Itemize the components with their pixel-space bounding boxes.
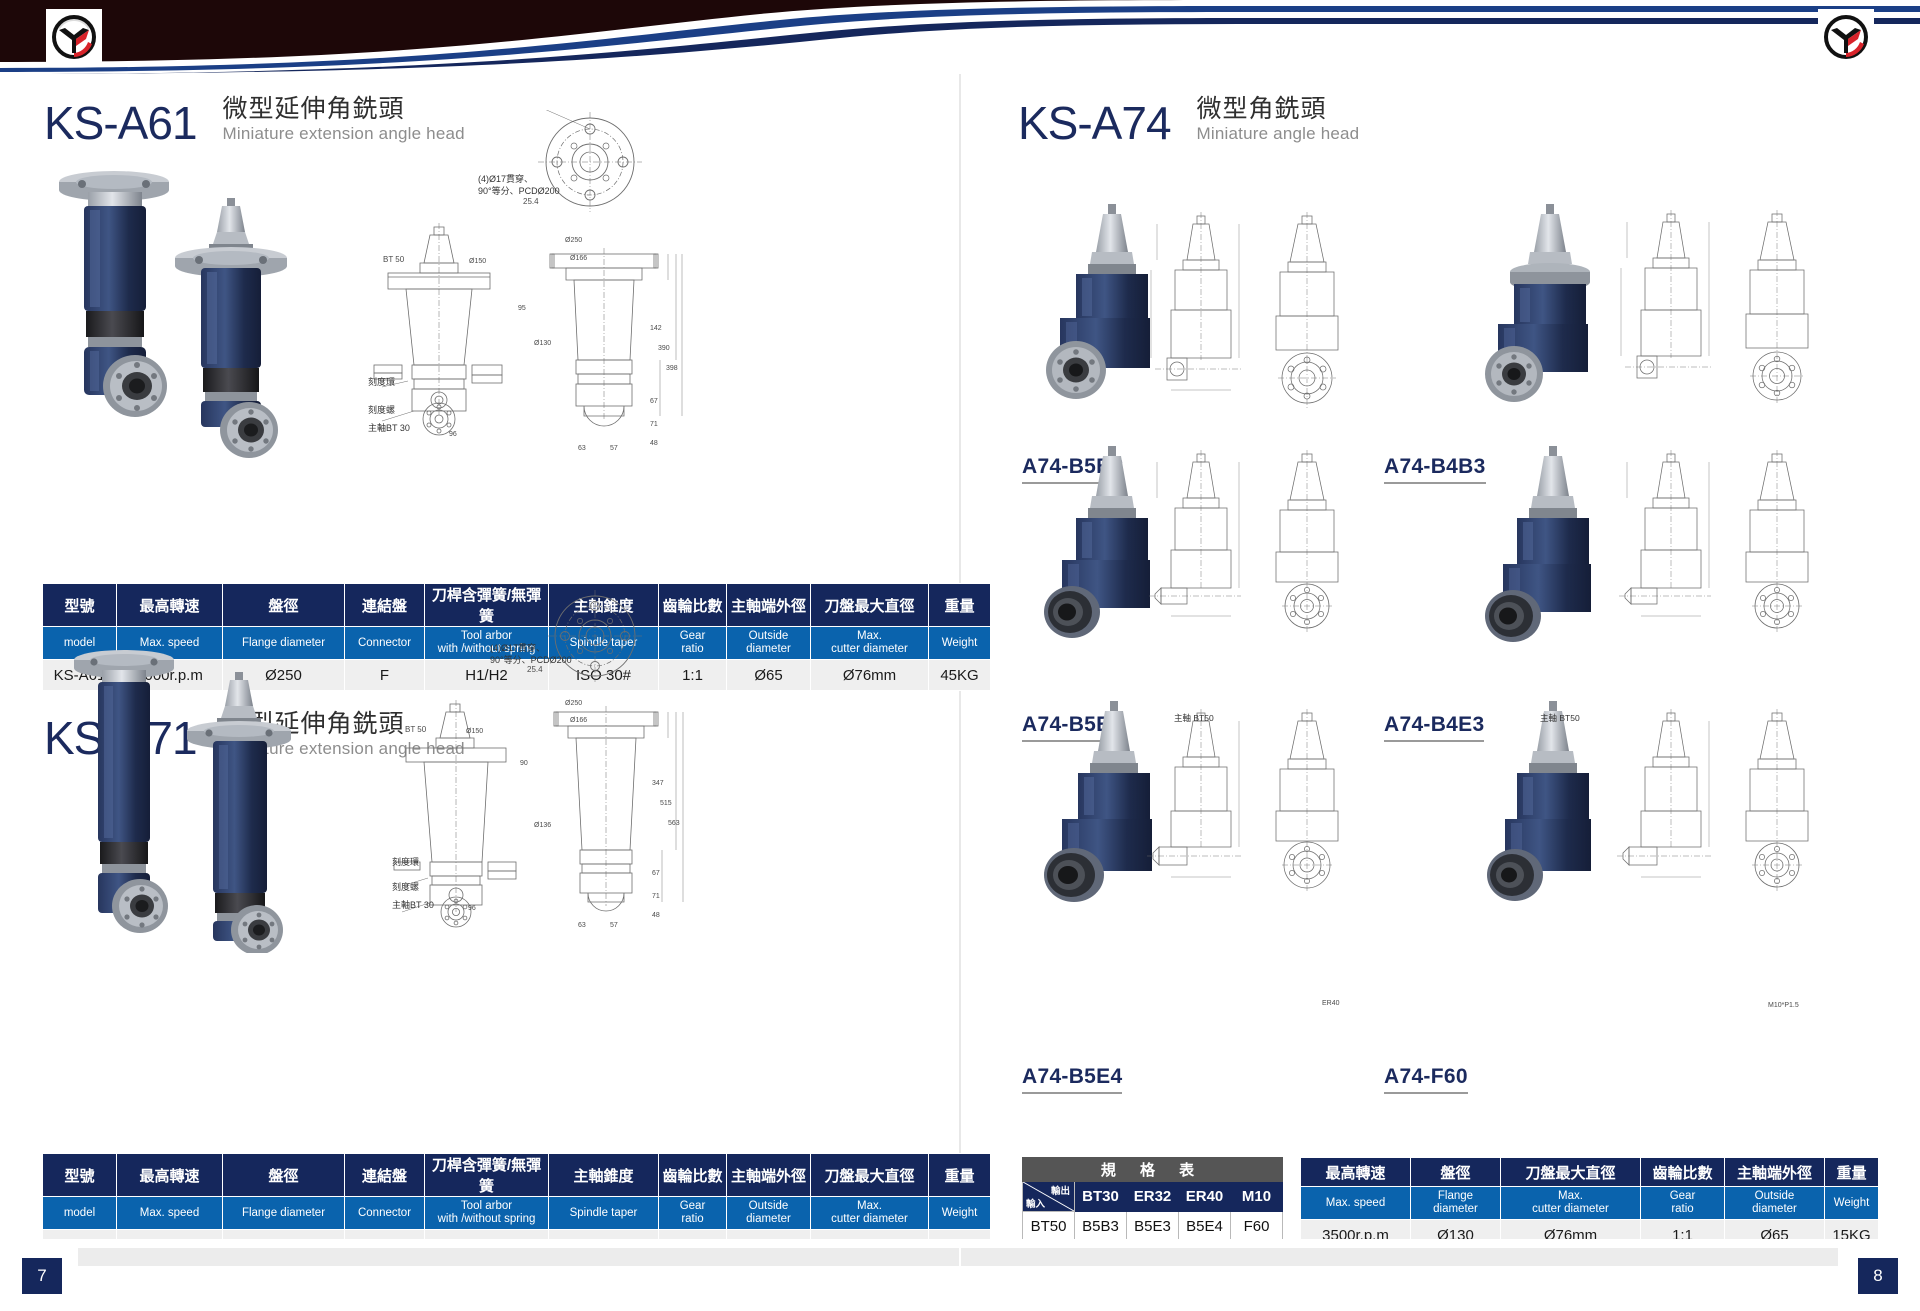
drawing-ks-a61-flange-pattern [520, 110, 660, 220]
matrix-cell-b5b3: B5B3 [1075, 1212, 1127, 1242]
th-cn-gear: 齒輪比數 [659, 1154, 727, 1197]
catalog-spread: KS-A61 微型延伸角銑頭 Miniature extension angle… [0, 0, 1920, 1311]
dim-142: 142 [650, 325, 662, 332]
dim-bt50-label: BT 50 [383, 255, 404, 264]
title-chinese: 微型角銑頭 [1197, 95, 1360, 124]
drawing-a74-b4e3-side [1615, 448, 1730, 638]
matrix-col-er32: ER32 [1127, 1182, 1179, 1212]
dim-96: 96 [449, 431, 457, 438]
matrix-cell-b5e4: B5E4 [1179, 1212, 1231, 1242]
matrix-corner-cell: 輸出 輸入 [1023, 1182, 1075, 1212]
variant-caption-a74-f60: A74-F60 [1384, 1065, 1468, 1094]
drawing-a74-b5e4-side [1145, 705, 1260, 900]
dim-d250: Ø250 [565, 237, 582, 244]
th-cn-cutter: 刀盤最大直徑 [1501, 1158, 1641, 1187]
drawing-ks-a61-elevation [528, 240, 688, 445]
dim-d136: Ø136 [534, 822, 551, 829]
model-code: KS-A61 [44, 100, 197, 146]
dim-398: 398 [666, 365, 678, 372]
matrix-corner-output-label: 輸出 [1051, 1183, 1070, 1197]
footer-strip [78, 1248, 1838, 1266]
note-spindle-bt30: 主軸BT 30 [368, 421, 410, 434]
product-photo-a74-b4e3 [1465, 440, 1630, 675]
dim-63: 63 [578, 445, 586, 452]
product-photo-a74-b4b3 [1460, 200, 1630, 430]
td-gear: 1:1 [659, 660, 727, 691]
th-cn-cutter: 刀盤最大直徑 [811, 584, 929, 627]
dim-d150: Ø150 [466, 728, 483, 735]
th-cn-model: 型號 [43, 584, 117, 627]
dim-57: 57 [610, 922, 618, 929]
th-cn-speed: 最高轉速 [117, 1154, 223, 1197]
td-outside: Ø65 [727, 660, 811, 691]
note-spindle-f60: 主軸 BT50 [1540, 712, 1580, 724]
drawing-a74-b5e4-front [1258, 705, 1358, 900]
title-english: Miniature angle head [1197, 124, 1360, 144]
note-spindle-bt30: 主軸BT 30 [392, 898, 434, 911]
product-photo-ks-a61-assembly [175, 192, 375, 462]
table-header-row-en: model Max. speed Flange diameter Connect… [43, 1197, 991, 1230]
th-en-weight: Weight [1825, 1187, 1879, 1220]
note-hole-pattern-line2: 90°等分、PCDØ200 [478, 184, 560, 197]
table-header-row-cn: 最高轉速 盤徑 刀盤最大直徑 齒輪比數 主軸端外徑 重量 [1301, 1158, 1879, 1187]
matrix-row-label-bt50: BT50 [1023, 1212, 1075, 1242]
product-title-ks-a74: KS-A74 微型角銑頭 Miniature angle head [1018, 95, 1359, 146]
variant-caption-a74-b5e4: A74-B5E4 [1022, 1065, 1122, 1094]
drawing-a74-b5b3-front [1258, 210, 1358, 425]
th-en-arbor: Tool arborwith /without spring [425, 1197, 549, 1230]
matrix-col-bt30: BT30 [1075, 1182, 1127, 1212]
drawing-ks-a61-section [368, 215, 553, 445]
th-en-flange: Flangediameter [1411, 1187, 1501, 1220]
th-cn-gear: 齒輪比數 [1641, 1158, 1725, 1187]
dim-95: 95 [518, 305, 526, 312]
dim-d166: Ø166 [570, 717, 587, 724]
drawing-ks-a71-flange-pattern [530, 588, 660, 688]
th-cn-taper: 主軸錐度 [549, 1154, 659, 1197]
brand-logo-left [46, 9, 102, 65]
th-cn-outside: 主軸端外徑 [727, 584, 811, 627]
matrix-cell-b5e3: B5E3 [1127, 1212, 1179, 1242]
dim-67: 67 [652, 870, 660, 877]
th-cn-outside: 主軸端外徑 [1725, 1158, 1825, 1187]
th-en-connector: Connector [345, 1197, 425, 1230]
th-cn-weight: 重量 [929, 584, 991, 627]
page-number-right: 8 [1858, 1258, 1898, 1294]
dim-48: 48 [652, 912, 660, 919]
table-header-row-en: Max. speed Flangediameter Max.cutter dia… [1301, 1187, 1879, 1220]
th-en-outside: Outsidediameter [727, 1197, 811, 1230]
dim-bt50-label: BT 50 [405, 725, 426, 734]
th-cn-flange: 盤徑 [223, 1154, 345, 1197]
th-cn-flange: 盤徑 [223, 584, 345, 627]
th-en-outside: Outsidediameter [1725, 1187, 1825, 1220]
drawing-a74-f60-front [1728, 705, 1828, 900]
product-title-ks-a61: KS-A61 微型延伸角銑頭 Miniature extension angle… [44, 95, 465, 146]
th-en-flange: Flange diameter [223, 1197, 345, 1230]
td-weight: 45KG [929, 660, 991, 691]
th-en-speed: Max. speed [1301, 1187, 1411, 1220]
dim-96: 96 [468, 905, 476, 912]
drawing-a74-b4b3-side [1615, 208, 1730, 423]
table-header-row-cn: 型號 最高轉速 盤徑 連結盤 刀桿含彈簧/無彈簧 主軸錐度 齒輪比數 主軸端外徑… [43, 584, 991, 627]
dim-71: 71 [650, 421, 658, 428]
th-cn-gear: 齒輪比數 [659, 584, 727, 627]
th-en-taper: Spindle taper [549, 1197, 659, 1230]
banner-swoosh-graphic [0, 0, 1920, 74]
matrix-cell-f60: F60 [1231, 1212, 1283, 1242]
td-cutter: Ø76mm [811, 660, 929, 691]
th-cn-weight: 重量 [1825, 1158, 1879, 1187]
dim-347: 347 [652, 780, 664, 787]
th-en-speed: Max. speed [117, 1197, 223, 1230]
spec-table-ks-a74: 最高轉速 盤徑 刀盤最大直徑 齒輪比數 主軸端外徑 重量 Max. speed … [1300, 1157, 1879, 1251]
note-scale-ring: 刻度環 [392, 855, 419, 868]
page-number-left: 7 [22, 1258, 62, 1294]
th-cn-outside: 主軸端外徑 [727, 1154, 811, 1197]
product-photo-a74-f60 [1465, 695, 1630, 930]
note-spindle-b5e4: 主軸 BT50 [1174, 712, 1214, 724]
th-en-cutter: Max.cutter diameter [811, 1197, 929, 1230]
th-cn-speed: 最高轉速 [1301, 1158, 1411, 1187]
footer-strip-divider [959, 1248, 961, 1266]
top-banner [0, 0, 1920, 74]
note-output-f60: M10*P1.5 [1768, 1002, 1799, 1009]
brand-logo-icon [50, 13, 98, 61]
th-cn-arbor: 刀桿含彈簧/無彈簧 [425, 1154, 549, 1197]
dim-d130: Ø130 [534, 340, 551, 347]
matrix-row-bt50: BT50 B5B3 B5E3 B5E4 F60 [1023, 1212, 1283, 1242]
brand-logo-icon [1822, 13, 1870, 61]
drawing-a74-f60-side [1615, 705, 1730, 900]
dim-90: 90 [520, 760, 528, 767]
brand-logo-right [1818, 9, 1874, 65]
matrix-title-row: 規 格 表 [1023, 1158, 1283, 1182]
drawing-a74-b5e3-front [1258, 448, 1358, 638]
dim-67: 67 [650, 398, 658, 405]
note-scale-screw: 刻度螺 [392, 880, 419, 893]
th-en-connector: Connector [345, 627, 425, 660]
table-header-row-cn: 型號 最高轉速 盤徑 連結盤 刀桿含彈簧/無彈簧 主軸錐度 齒輪比數 主軸端外徑… [43, 1154, 991, 1197]
matrix-corner-input-label: 輸入 [1026, 1196, 1045, 1210]
note-scale-screw: 刻度螺 [368, 403, 395, 416]
model-code: KS-A74 [1018, 100, 1171, 146]
matrix-header-row: 輸出 輸入 BT30 ER32 ER40 M10 [1023, 1182, 1283, 1212]
matrix-title: 規 格 表 [1023, 1158, 1283, 1182]
product-photo-ks-a71-assembly [185, 668, 375, 953]
dim-63: 63 [578, 922, 586, 929]
th-en-weight: Weight [929, 1197, 991, 1230]
dim-57: 57 [610, 445, 618, 452]
th-cn-speed: 最高轉速 [117, 584, 223, 627]
th-en-cutter: Max.cutter diameter [1501, 1187, 1641, 1220]
th-cn-connector: 連結盤 [345, 1154, 425, 1197]
dim-390: 390 [658, 345, 670, 352]
th-cn-flange: 盤徑 [1411, 1158, 1501, 1187]
dim-71: 71 [652, 893, 660, 900]
drawing-a74-b4b3-front [1728, 208, 1828, 423]
title-chinese: 微型延伸角銑頭 [223, 95, 465, 124]
th-cn-connector: 連結盤 [345, 584, 425, 627]
th-en-model: model [43, 1197, 117, 1230]
th-en-gear: Gearratio [1641, 1187, 1725, 1220]
drawing-a74-b5b3-side [1145, 210, 1260, 425]
note-output-b5e4: ER40 [1322, 1000, 1340, 1007]
th-cn-cutter: 刀盤最大直徑 [811, 1154, 929, 1197]
dim-25-4: 25.4 [523, 197, 539, 206]
dim-25-4: 25.4 [527, 665, 543, 674]
drawing-ks-a71-elevation [530, 700, 690, 930]
dim-515: 515 [660, 800, 672, 807]
drawing-a74-b5e3-side [1145, 448, 1260, 638]
matrix-col-er40: ER40 [1179, 1182, 1231, 1212]
th-en-outside: Outsidediameter [727, 627, 811, 660]
th-en-flange: Flange diameter [223, 627, 345, 660]
dim-d250: Ø250 [565, 700, 582, 707]
th-en-gear: Gearratio [659, 627, 727, 660]
matrix-col-m10: M10 [1231, 1182, 1283, 1212]
dim-563: 563 [668, 820, 680, 827]
th-cn-model: 型號 [43, 1154, 117, 1197]
dim-d166: Ø166 [570, 255, 587, 262]
dim-d150: Ø150 [469, 258, 486, 265]
th-cn-weight: 重量 [929, 1154, 991, 1197]
title-english: Miniature extension angle head [223, 124, 465, 144]
note-scale-ring: 刻度環 [368, 375, 395, 388]
th-en-gear: Gearratio [659, 1197, 727, 1230]
th-en-cutter: Max.cutter diameter [811, 627, 929, 660]
drawing-a74-b4e3-front [1728, 448, 1828, 638]
th-en-weight: Weight [929, 627, 991, 660]
dim-48: 48 [650, 440, 658, 447]
